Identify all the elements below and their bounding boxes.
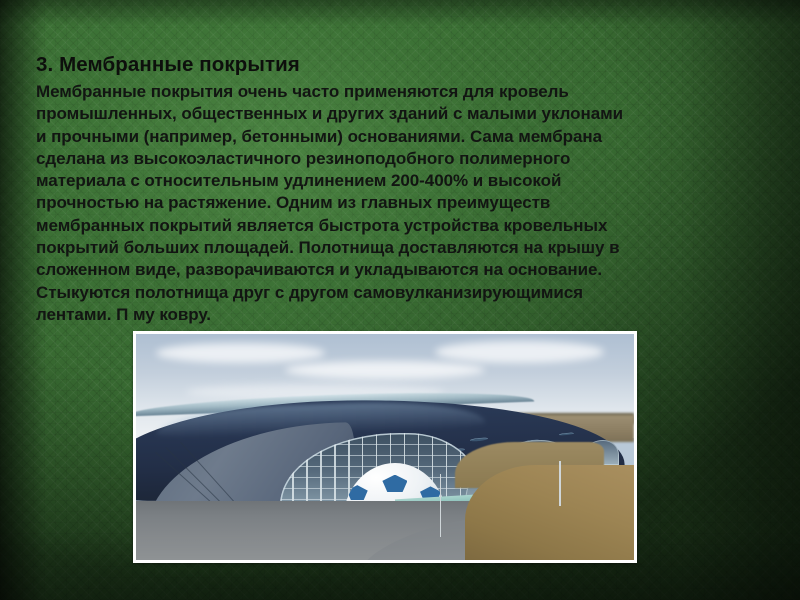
body-line-5: материала с относительным удлинением 200… xyxy=(36,170,752,192)
body-line-10: Стыкуются полотнища друг с другом самову… xyxy=(36,282,752,304)
body-line-8: покрытий больших площадей. Полотнища дос… xyxy=(36,237,752,259)
slide-photo xyxy=(133,331,637,563)
photo-lamp-post xyxy=(559,461,561,506)
photo-facade-transom xyxy=(280,444,479,445)
body-line-6: прочностью на растяжение. Одним из главн… xyxy=(36,192,752,214)
slide-text-block: 3. Мембранные покрытия Мембранные покрыт… xyxy=(36,52,752,326)
body-line-9: сложенном виде, разворачиваются и уклады… xyxy=(36,259,752,281)
body-line-2: промышленных, общественных и других здан… xyxy=(36,103,752,125)
body-line-11: лентами. П му ковру. xyxy=(36,304,752,326)
photo-ball-panel xyxy=(382,475,407,493)
body-line-1: Мембранные покрытия очень часто применяю… xyxy=(36,81,752,103)
presentation-slide: 3. Мембранные покрытия Мембранные покрыт… xyxy=(0,0,800,600)
body-line-3: и прочными (например, бетонными) основан… xyxy=(36,126,752,148)
body-line-4: сделана из высокоэластичного резиноподоб… xyxy=(36,148,752,170)
slide-title: 3. Мембранные покрытия xyxy=(36,52,752,78)
photo-lamp-post xyxy=(440,474,442,537)
body-line-7: мембранных покрытий является быстрота ус… xyxy=(36,215,752,237)
photo-facade-transom xyxy=(280,455,479,456)
photo-cloud xyxy=(285,361,484,379)
photo-dry-grass-foreground xyxy=(465,465,634,560)
membrane-roof-stadium-photo xyxy=(136,334,634,560)
